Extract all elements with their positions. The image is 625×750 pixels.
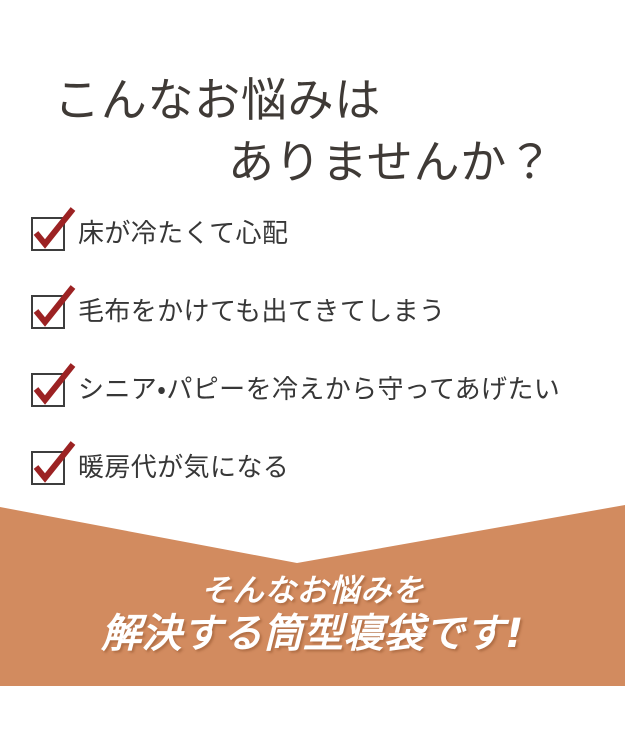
list-item-label: シニア・パピーを冷えから守ってあげたい — [78, 377, 560, 403]
list-item-label: 床が冷たくて心配 — [78, 221, 288, 247]
checked-checkbox-icon — [31, 451, 65, 485]
page-title: こんなお悩みは ありませんか？ — [0, 74, 625, 191]
solution-banner-line-2: 解決する筒型寝袋です! — [0, 611, 625, 657]
solution-banner-line-1: そんなお悩みを — [0, 574, 625, 609]
list-item: 床が冷たくて心配 — [0, 212, 625, 256]
list-item: 毛布をかけても出てきてしまう — [0, 290, 625, 334]
checked-checkbox-icon — [31, 373, 65, 407]
page-title-line-2: ありませんか？ — [0, 136, 625, 190]
checked-checkbox-icon — [31, 295, 65, 329]
solution-banner-text: そんなお悩みを 解決する筒型寝袋です! — [0, 574, 625, 657]
page-title-line-1: こんなお悩みは — [0, 74, 625, 128]
promo-page: こんなお悩みは ありませんか？ 床が冷たくて心配 毛布をかけても出てきてしまう — [0, 0, 625, 750]
list-item: シニア・パピーを冷えから守ってあげたい — [0, 368, 625, 412]
checked-checkbox-icon — [31, 217, 65, 251]
list-item-label: 毛布をかけても出てきてしまう — [78, 299, 445, 325]
list-item-label: 暖房代が気になる — [78, 455, 289, 481]
problem-checklist: 床が冷たくて心配 毛布をかけても出てきてしまう シニア・パピーを冷えから守ってあ… — [0, 212, 625, 490]
list-item: 暖房代が気になる — [0, 446, 625, 490]
solution-banner: そんなお悩みを 解決する筒型寝袋です! — [0, 496, 625, 686]
